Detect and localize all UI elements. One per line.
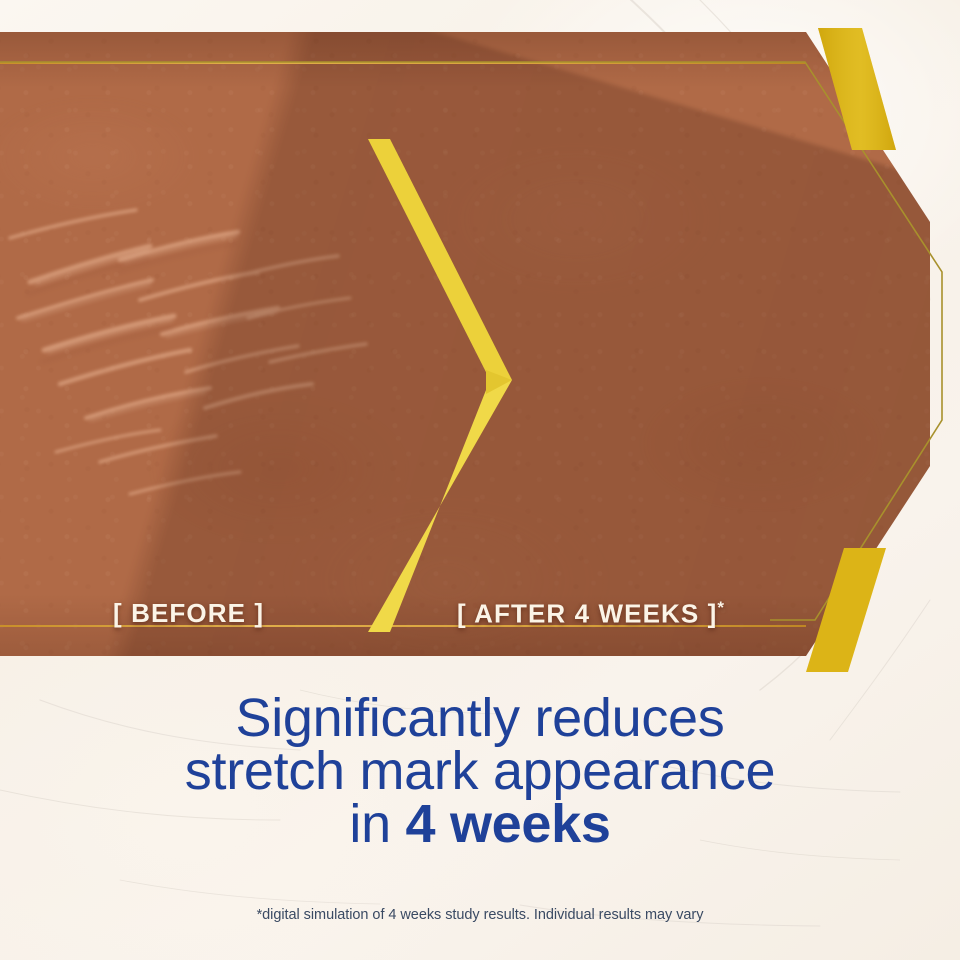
headline: Significantly reduces stretch mark appea… (0, 692, 960, 851)
before-label: [ BEFORE ] (113, 598, 264, 629)
product-claim-banner: [ BEFORE ] [ AFTER 4 WEEKS ]* Significan… (0, 0, 960, 960)
headline-line-3-prefix: in (349, 794, 405, 854)
headline-line-3: in 4 weeks (0, 798, 960, 851)
headline-line-2: stretch mark appearance (185, 741, 775, 801)
disclaimer-text: *digital simulation of 4 weeks study res… (0, 907, 960, 923)
chevron-divider-icon (360, 102, 520, 637)
headline-line-1: Significantly reduces (236, 688, 725, 748)
gold-rule-top (0, 62, 806, 64)
after-label-asterisk: * (717, 598, 725, 617)
after-label: [ AFTER 4 WEEKS ]* (457, 598, 725, 630)
after-label-text: [ AFTER 4 WEEKS ] (457, 599, 717, 629)
before-after-photo: [ BEFORE ] [ AFTER 4 WEEKS ]* (0, 32, 930, 656)
headline-highlight: 4 weeks (406, 794, 611, 854)
